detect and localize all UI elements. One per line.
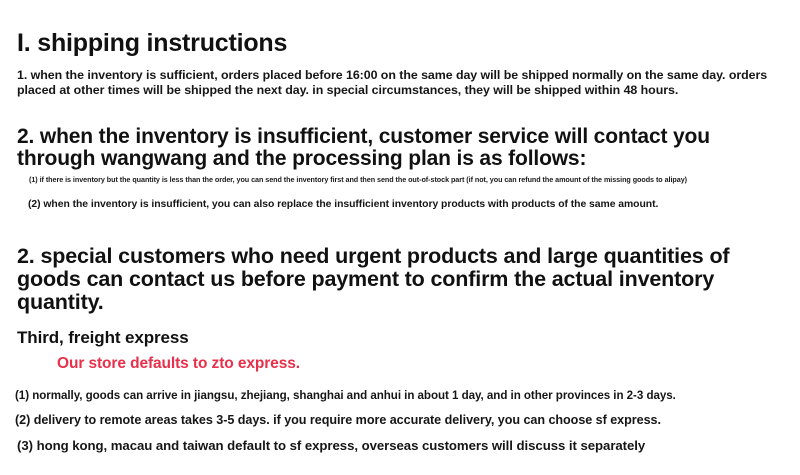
list-item-replace-products: (2) when the inventory is insufficient, … <box>28 198 658 211</box>
list-item-delivery-remote-areas: (2) delivery to remote areas takes 3-5 d… <box>15 413 661 428</box>
heading-freight-express: Third, freight express <box>17 328 189 347</box>
page-title-shipping-instructions: I. shipping instructions <box>17 30 287 56</box>
heading-inventory-insufficient: 2. when the inventory is insufficient, c… <box>17 126 757 170</box>
shipping-policy-page: I. shipping instructions 1. when the inv… <box>0 0 800 475</box>
notice-default-express-carrier: Our store defaults to zto express. <box>57 355 300 373</box>
paragraph-inventory-sufficient: 1. when the inventory is sufficient, ord… <box>17 68 783 97</box>
list-item-partial-shipment: (1) if there is inventory but the quanti… <box>29 175 687 185</box>
heading-special-customers: 2. special customers who need urgent pro… <box>17 245 787 314</box>
list-item-delivery-mainland: (1) normally, goods can arrive in jiangs… <box>15 389 676 403</box>
list-item-delivery-overseas: (3) hong kong, macau and taiwan default … <box>17 438 645 454</box>
